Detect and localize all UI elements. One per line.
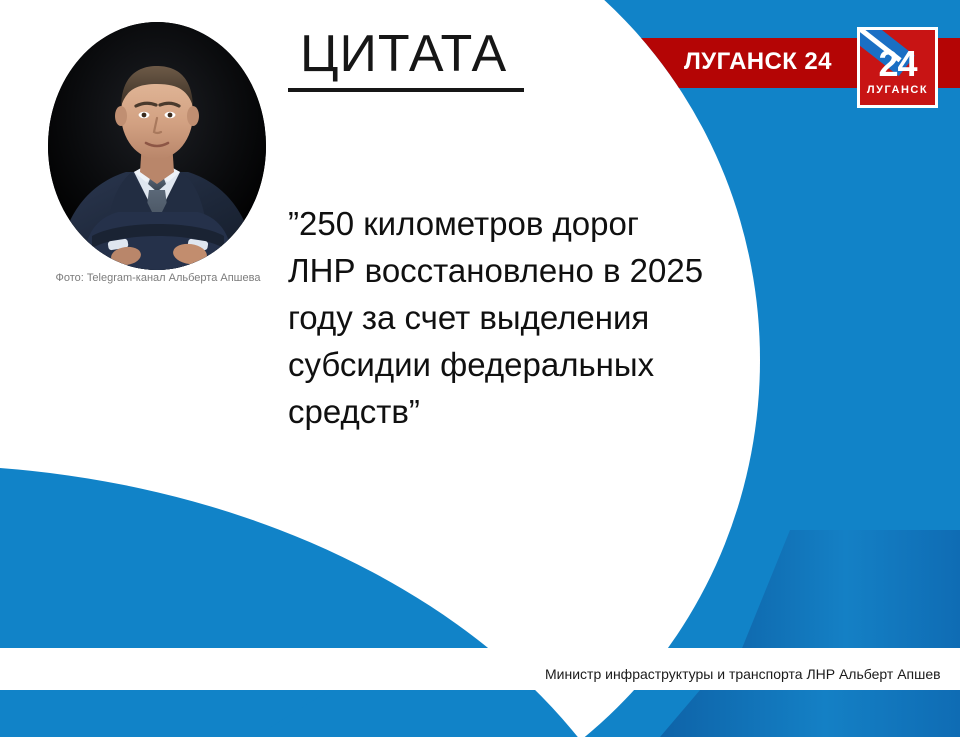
- quote-attribution: Министр инфраструктуры и транспорта ЛНР …: [545, 666, 941, 682]
- portrait-illustration: [48, 22, 266, 270]
- page-title: ЦИТАТА: [300, 26, 507, 82]
- quote-card: ЦИТАТА ЛУГАНСК 24 24 ЛУГАНСК: [0, 0, 960, 737]
- title-underline: [288, 88, 524, 92]
- logo-subtitle: ЛУГАНСК: [860, 85, 935, 96]
- channel-banner-label: ЛУГАНСК 24: [684, 48, 832, 76]
- blue-band-bottom-right-lower: [660, 690, 960, 737]
- photo-credit: Фото: Telegram-канал Альберта Апшева: [42, 272, 274, 284]
- channel-logo-inner: 24 ЛУГАНСК: [860, 30, 935, 105]
- portrait-photo: [48, 22, 266, 270]
- quote-text: ”250 километров дорог ЛНР восстановлено …: [288, 200, 708, 435]
- logo-number: 24: [860, 46, 935, 82]
- channel-logo[interactable]: 24 ЛУГАНСК: [857, 27, 938, 108]
